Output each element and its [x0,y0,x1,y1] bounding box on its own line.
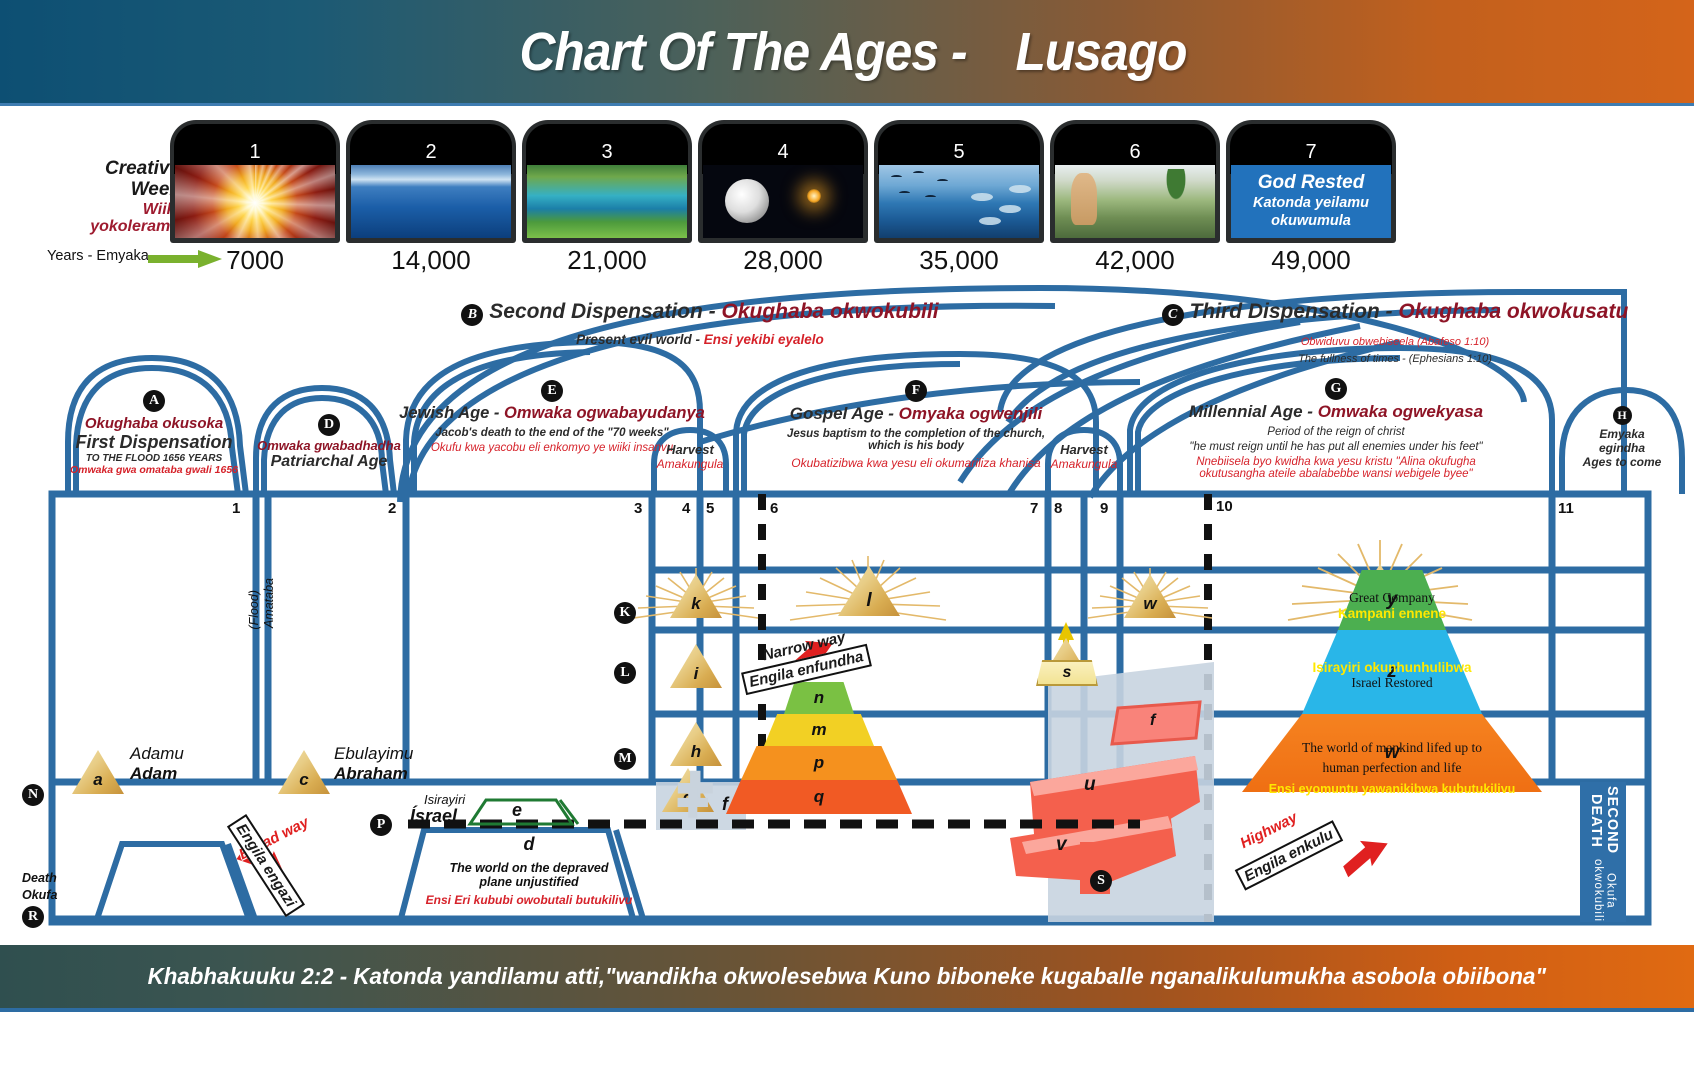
marker-f-salmon: f [1150,712,1155,730]
dispensation-h-line3: Ages to come [1566,455,1678,469]
harvest-1-en: Harvest [640,442,740,457]
creative-week-label-lo-1: Wiiki [80,201,180,219]
footer-divider [0,1008,1694,1012]
marker-h: H [1613,406,1632,425]
creative-day-panel-2: 2 [346,120,516,243]
tick-number-9: 9 [1100,500,1108,517]
row-key-k: K [614,602,636,624]
god-rested-line2: okuwumula [1271,213,1351,229]
pyramid-w-labels: The world of mankind lifed up to human p… [1242,740,1542,796]
row-key-l: L [614,662,636,684]
marker-e-israel: e [512,800,522,821]
dispensation-e-title-local: Omwaka ogwabayudanya [504,404,705,422]
death-label: Death Okufa [22,870,57,904]
years-axis: 7000 14,000 21,000 28,000 35,000 42,000 … [170,245,1406,279]
dispensation-g-sub1: Period of the reign of christ [1118,426,1554,438]
footer-verse: Khabhakuuku 2:2 - Katonda yandilamu atti… [148,963,1546,990]
dispensation-g-title-local: Omwaka ogwekyasa [1318,402,1483,421]
chart-body: B Second Dispensation - Okughaba okwokub… [0,282,1694,942]
row-key-s: S [1090,870,1112,892]
gospel-segment-q: q [726,780,912,814]
page-title: Chart Of The Ages - [519,21,966,83]
footer-banner: Khabhakuuku 2:2 - Katonda yandilamu atti… [0,945,1694,1008]
marker-u: u [1084,774,1096,796]
pyramid-w-lo: Ensi eyomuntu yawanikibwa kubutukilivu [1242,782,1542,796]
dispensation-a-title: First Dispensation [42,432,266,453]
moon-sun-stars-image [703,165,863,238]
pyramid-w-en2: human perfection and life [1242,760,1542,776]
dispensation-a-title-local: Okughaba okusoka [42,415,266,432]
creative-week-label: Creative Week Wiiki yokoleramu [80,158,180,236]
row-key-n: N [22,784,44,806]
land-vegetation-image [527,165,687,238]
tick-number-7: 7 [1030,500,1038,517]
creative-week-panels: 1 2 3 4 5 [170,120,1406,243]
tick-number-10: 10 [1216,498,1233,515]
dispensation-g-sub4: okutusangha ateile abalabebbe wansi webi… [1118,468,1554,480]
chart-of-the-ages-page: Chart Of The Ages - Lusago Creative Week… [0,0,1694,1080]
year-tick-3: 21,000 [522,245,692,276]
pyramid-y-labels: Great Company Kampani ennene [1292,590,1492,621]
year-tick-2: 14,000 [346,245,516,276]
dispensation-h-header: H Emyaka egindha Ages to come [1566,406,1678,469]
pyramid-z-labels: Isirayiri okunhunhulibwa Israel Restored [1262,660,1522,691]
row-key-p: P [370,814,392,836]
gospel-pyramid: n m p q [726,682,912,812]
dispensation-h-line2: egindha [1566,441,1678,455]
ocean-sky-image [351,165,511,238]
harvest-1-lo: Amakungula [640,457,740,471]
dispensation-f-sub-en1: Jesus baptism to the completion of the c… [736,428,1096,440]
harvest-1-label: Harvest Amakungula [640,442,740,471]
creative-day-panel-4: 4 [698,120,868,243]
pyramid-y-en: Great Company [1292,590,1492,606]
dispensation-d-header: D Omwaka gwabadhadha Patriarchal Age [244,414,414,471]
gospel-segment-p: p [741,746,897,780]
marker-d: d [424,834,634,855]
tick-number-8: 8 [1054,500,1062,517]
year-tick-1: 7000 [170,245,340,276]
dispensation-c-title-local: Okughaba okwokusatu [1398,300,1628,323]
tick-number-1: 1 [232,500,240,517]
page-title-bar: Chart Of The Ages - Lusago [0,0,1694,103]
cross-icon-2: ✚ [676,784,710,824]
dispensation-a-sub-en: TO THE FLOOD 1656 YEARS [42,453,266,464]
adam-label: Adamu Adam [130,744,184,783]
adam-lo: Adamu [130,744,184,764]
second-death-banner: SECOND DEATH Okufa okwokubili [1580,782,1626,922]
flood-label: (Flood) [247,590,261,630]
year-tick-7: 49,000 [1226,245,1396,276]
marker-a: A [143,390,165,412]
depraved-lo: Ensi Eri kububi owobutali butukilivu [424,893,634,907]
death-lo: Okufa [22,887,57,904]
marker-v: v [1056,834,1067,856]
creative-week-label-en-2: Week [80,179,180,200]
dispensation-c-title: Third Dispensation - [1190,300,1393,323]
second-death-lo: Okufa okwokubili [1591,859,1616,922]
tick-number-4: 4 [682,500,690,517]
abraham-lo: Ebulayimu [334,744,413,764]
pyramid-z-lo: Isirayiri okunhunhulibwa [1262,660,1522,675]
god-rested-title: God Rested [1258,173,1365,193]
pyramid-z-en: Israel Restored [1262,675,1522,691]
pyramid-y-lo: Kampani ennene [1292,606,1492,621]
marker-g: G [1325,378,1347,400]
dispensation-a-sub-lo: Omwaka gwa omataba gwali 1656 [42,464,266,476]
dispensation-b-title: Second Dispensation - [489,300,715,323]
sun-burst-image [175,165,335,238]
abraham-en: Abraham [334,764,413,784]
dispensation-g-sub3: Nnebiisela byo kwidha kwa yesu kristu "A… [1118,456,1554,468]
marker-f-cross: f [722,794,728,815]
dispensation-a-header: A Okughaba okusoka First Dispensation TO… [42,390,266,476]
marker-trapezoid-s: s [1036,660,1098,686]
creative-week-label-lo-2: yokoleramu [80,218,180,236]
year-tick-5: 35,000 [874,245,1044,276]
marker-b: B [461,304,483,326]
depraved-world-label: d The world on the depraved plane unjust… [424,834,634,907]
creative-day-panel-7: 7 God Rested Katonda yeilamu okuwumula [1226,120,1396,243]
dispensation-f-title-local: Omyaka ogwenjili [899,404,1043,423]
abraham-label: Ebulayimu Abraham [334,744,413,783]
marker-d: D [318,414,340,436]
creative-day-panel-5: 5 [874,120,1044,243]
row-key-r: R [22,906,44,928]
tick-number-11: 11 [1558,500,1574,517]
flood-label-line2: Amataba [262,578,276,628]
israel-lo: Isirayiri [424,792,465,807]
dispensation-c-header: C Third Dispensation - Okughaba okwokusa… [1160,300,1630,365]
year-tick-4: 28,000 [698,245,868,276]
dispensation-g-header: G Millennial Age - Omwaka ogwekyasa Peri… [1118,378,1554,480]
dispensation-e-title: Jewish Age - [399,404,499,422]
dispensation-b-sub-en: Present evil world - [576,332,700,347]
dispensation-d-title-local: Omwaka gwabadhadha [244,438,414,453]
title-divider [0,103,1694,106]
depraved-line2: plane unjustified [424,875,634,889]
creative-day-panel-1: 1 [170,120,340,243]
tick-number-5: 5 [706,500,714,517]
man-animals-eden-image [1055,165,1215,238]
israel-en: Ísrael [410,806,457,827]
dispensation-g-sub2: "he must reign until he has put all enem… [1118,441,1554,453]
flood-label-line1: (Flood) [247,590,261,630]
god-rested-line1: Katonda yeilamu [1253,195,1369,211]
dispensation-e-sub-en: Jacob's death to the end of the "70 week… [392,427,712,439]
creative-week-label-en-1: Creative [80,158,180,179]
marker-e: E [541,380,563,402]
tick-number-2: 2 [388,500,396,517]
row-key-m: M [614,748,636,770]
gospel-segment-n: n [784,682,854,714]
flood-label-local: Amataba [262,578,276,628]
page-title-language: Lusago [1015,21,1186,83]
marker-c: C [1162,304,1184,326]
creative-day-panel-3: 3 [522,120,692,243]
second-death-en: SECOND DEATH [1587,782,1619,859]
dispensation-h-line1: Emyaka [1566,427,1678,441]
years-axis-label: Years - Emyaka [47,248,149,264]
dispensation-g-title: Millennial Age - [1189,402,1313,421]
god-rested-panel: God Rested Katonda yeilamu okuwumula [1231,165,1391,238]
year-tick-6: 42,000 [1050,245,1220,276]
pyramid-w-en1: The world of mankind lifed up to [1242,740,1542,756]
dispensation-c-sub-lo: Obwiduvu obwebiseela (Abafeso 1:10) [1160,336,1630,348]
tick-number-3: 3 [634,500,642,517]
dispensation-b-header: B Second Dispensation - Okughaba okwokub… [460,300,940,347]
marker-f: F [905,380,927,402]
dispensation-f-title: Gospel Age - [790,404,894,423]
dispensation-b-title-local: Okughaba okwokubili [722,300,939,323]
creative-day-panel-6: 6 [1050,120,1220,243]
birds-fish-image [879,165,1039,238]
dispensation-c-sub-en: The fullness of times - (Ephesians 1:10) [1160,353,1630,365]
tick-number-6: 6 [770,500,778,517]
gospel-segment-m: m [764,714,874,746]
death-en: Death [22,870,57,887]
depraved-line1: The world on the depraved [424,861,634,875]
dispensation-b-sub-lo: Ensi yekibi eyalelo [704,332,824,347]
dispensation-d-title: Patriarchal Age [244,453,414,471]
adam-en: Adam [130,764,184,784]
